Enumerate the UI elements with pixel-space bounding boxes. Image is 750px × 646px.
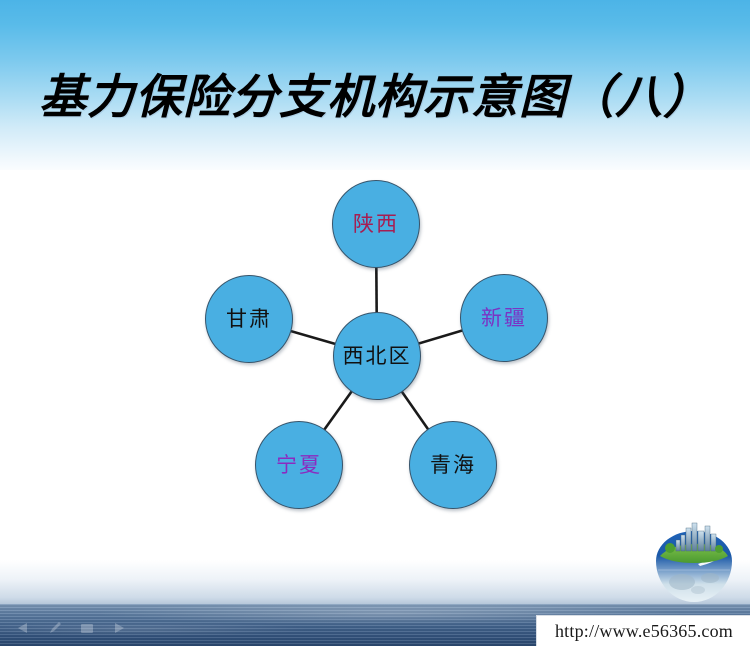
previous-slide-button[interactable] xyxy=(14,620,32,636)
org-structure-diagram: 陕西 甘肃 新疆 宁夏 青海 西北区 xyxy=(0,0,750,646)
diagram-node-gansu[interactable]: 甘肃 xyxy=(205,275,293,363)
diagram-node-northwest-region[interactable]: 西北区 xyxy=(333,312,421,400)
diagram-node-xinjiang[interactable]: 新疆 xyxy=(460,274,548,362)
presentation-slide: 基力保险分支机构示意图（八） 陕西 甘肃 新疆 宁夏 青海 西北区 xyxy=(0,0,750,646)
previous-arrow-icon xyxy=(14,620,32,636)
next-arrow-icon xyxy=(110,620,128,636)
node-label-gansu: 甘肃 xyxy=(226,309,272,330)
watermark-url-text: http://www.e56365.com xyxy=(555,621,733,642)
globe-city-logo-icon xyxy=(648,520,740,604)
diagram-node-shaanxi[interactable]: 陕西 xyxy=(332,180,420,268)
node-label-qinghai: 青海 xyxy=(430,455,476,476)
pen-icon xyxy=(46,620,64,636)
node-label-shaanxi: 陕西 xyxy=(353,214,399,235)
slideshow-controls xyxy=(14,620,128,636)
diagram-node-qinghai[interactable]: 青海 xyxy=(409,421,497,509)
node-label-xinjiang: 新疆 xyxy=(481,308,527,329)
watermark-url-box: http://www.e56365.com xyxy=(536,615,750,646)
pen-tool-button[interactable] xyxy=(46,620,64,636)
slide-menu-button[interactable] xyxy=(78,620,96,636)
next-slide-button[interactable] xyxy=(110,620,128,636)
menu-box-icon xyxy=(78,620,96,636)
node-label-ningxia: 宁夏 xyxy=(276,455,322,476)
diagram-node-ningxia[interactable]: 宁夏 xyxy=(255,421,343,509)
node-label-northwest-region: 西北区 xyxy=(343,346,412,367)
